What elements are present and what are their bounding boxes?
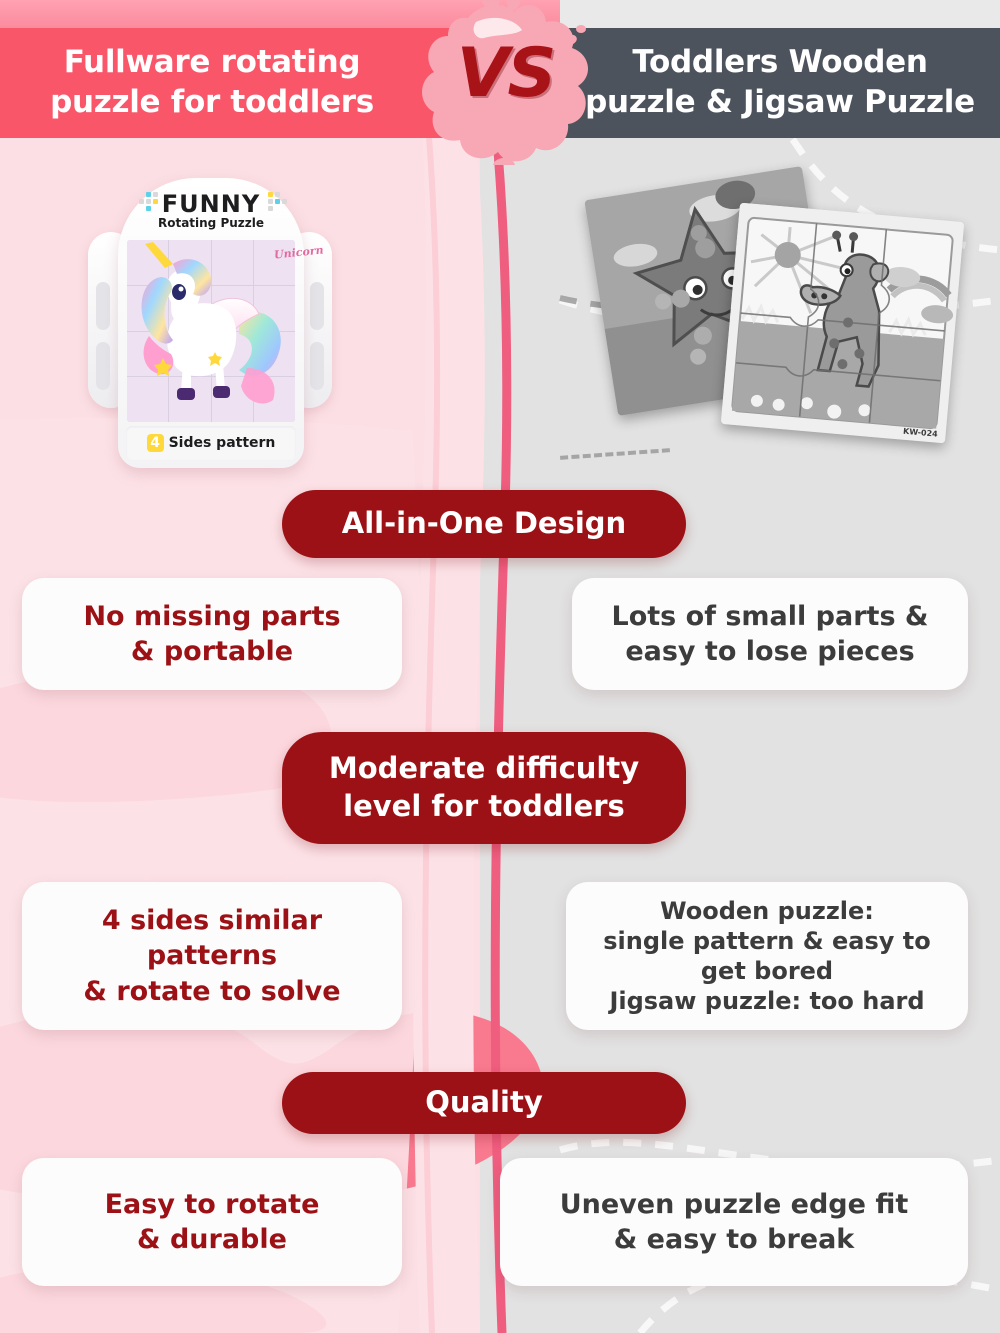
product-subtitle: Rotating Puzzle [118,216,304,230]
comparison-banner-1-label: All-in-One Design [318,505,650,543]
feature-card-right-3: Uneven puzzle edge fit & easy to break [500,1158,968,1286]
vs-label: VS [418,34,593,113]
giraffe-wooden-puzzle: KW-024 [721,203,964,444]
rotating-puzzle-product-image: FUNNY Rotating Puzzle [88,172,332,472]
sides-pattern-label: Sides pattern [169,435,276,451]
vs-badge: VS [418,0,593,165]
feature-card-right-2: Wooden puzzle: single pattern & easy to … [566,882,968,1030]
comparison-banner-3: Quality [282,1072,686,1134]
feature-card-left-3-text: Easy to rotate & durable [91,1187,334,1257]
feature-card-left-2-text: 4 sides similar patterns & rotate to sol… [69,903,354,1008]
comparison-banner-1: All-in-One Design [282,490,686,558]
wooden-puzzles-product-image: KW-024 [590,160,990,480]
header-left-title: Fullware rotating puzzle for toddlers [34,43,466,122]
product-puzzle-grid [127,240,295,422]
feature-card-left-1: No missing parts & portable [22,578,402,690]
feature-card-left-3: Easy to rotate & durable [22,1158,402,1286]
feature-card-right-1: Lots of small parts & easy to lose piece… [572,578,968,690]
feature-card-right-1-text: Lots of small parts & easy to lose piece… [598,599,943,669]
comparison-banner-2-label: Moderate difficulty level for toddlers [305,750,663,825]
product-sides-badge: 4 Sides pattern [126,426,296,460]
sides-count-badge: 4 [147,434,164,452]
comparison-banner-3-label: Quality [401,1084,567,1122]
feature-card-right-2-text: Wooden puzzle: single pattern & easy to … [589,896,945,1017]
top-strip-gray [560,0,1000,28]
feature-card-left-2: 4 sides similar patterns & rotate to sol… [22,882,402,1030]
comparison-banner-2: Moderate difficulty level for toddlers [282,732,686,844]
feature-card-right-3-text: Uneven puzzle edge fit & easy to break [546,1187,923,1257]
product-brand-name: FUNNY [118,190,304,218]
infographic-canvas: Fullware rotating puzzle for toddlers To… [0,0,1000,1333]
feature-card-left-1-text: No missing parts & portable [69,599,354,669]
